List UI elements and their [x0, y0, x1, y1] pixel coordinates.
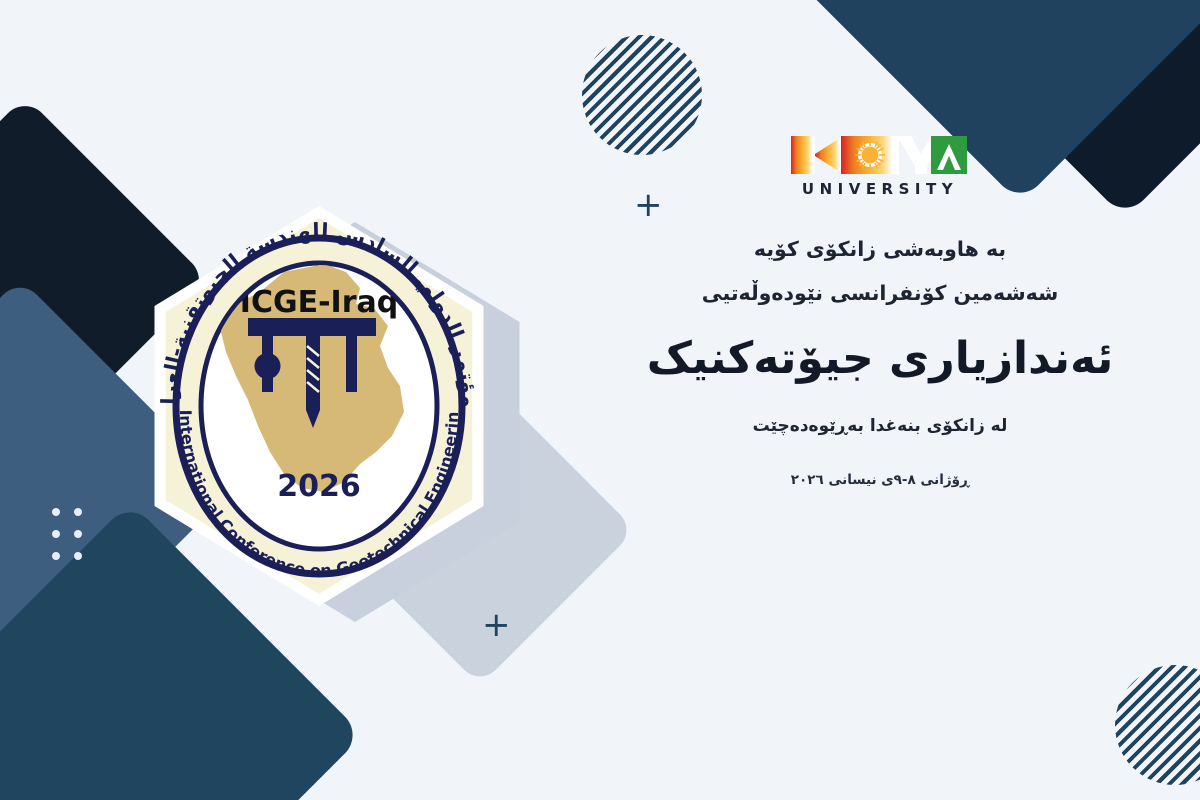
conference-badge: المؤتمر الدولي السادس للهندسة الجيوتقنية… [88, 200, 558, 620]
dot [74, 552, 82, 560]
badge-acronym: ICGE-Iraq [240, 285, 398, 320]
dot [74, 508, 82, 516]
dot [52, 552, 60, 560]
dot [74, 530, 82, 538]
date-line: ڕۆژانی ۸-۹ی نیسانی ۲۰۲٦ [600, 472, 1160, 488]
sun-icon [855, 140, 885, 170]
koya-letter-k-arm [815, 136, 843, 174]
koya-logo-artwork: UNIVERSITY [785, 130, 975, 202]
koya-university-logo: UNIVERSITY [785, 130, 975, 202]
striped-circle-icon-bottom [1115, 665, 1200, 785]
dot [52, 530, 60, 538]
koya-letter-k [791, 136, 815, 174]
conference-announcement-poster: + + المؤتمر الدولي السادس للهندسة ا [0, 0, 1200, 800]
dot [52, 508, 60, 516]
announcement-content: UNIVERSITY به‌ هاوبه‌شی زانکۆی کۆیه‌ شه‌… [600, 130, 1160, 488]
koya-subtitle: UNIVERSITY [802, 180, 958, 198]
headline-line-2: شه‌شه‌مین کۆنفرانسی نێوده‌وڵه‌تیی [600, 280, 1160, 308]
dot-grid-icon [52, 508, 82, 560]
page-title: ئه‌ندازیاری جیۆته‌کنیک [600, 333, 1160, 386]
venue-line: له‌ زانکۆی بنه‌غدا به‌ڕێوه‌ده‌چێت [600, 416, 1160, 436]
headline-line-1: به‌ هاوبه‌شی زانکۆی کۆیه‌ [600, 236, 1160, 264]
rig-beam-icon [248, 318, 376, 336]
badge-year: 2026 [277, 469, 361, 504]
rig-right-leg-icon [346, 336, 357, 392]
badge-artwork: المؤتمر الدولي السادس للهندسة الجيوتقنية… [88, 200, 558, 620]
rig-weight-icon [255, 353, 281, 379]
